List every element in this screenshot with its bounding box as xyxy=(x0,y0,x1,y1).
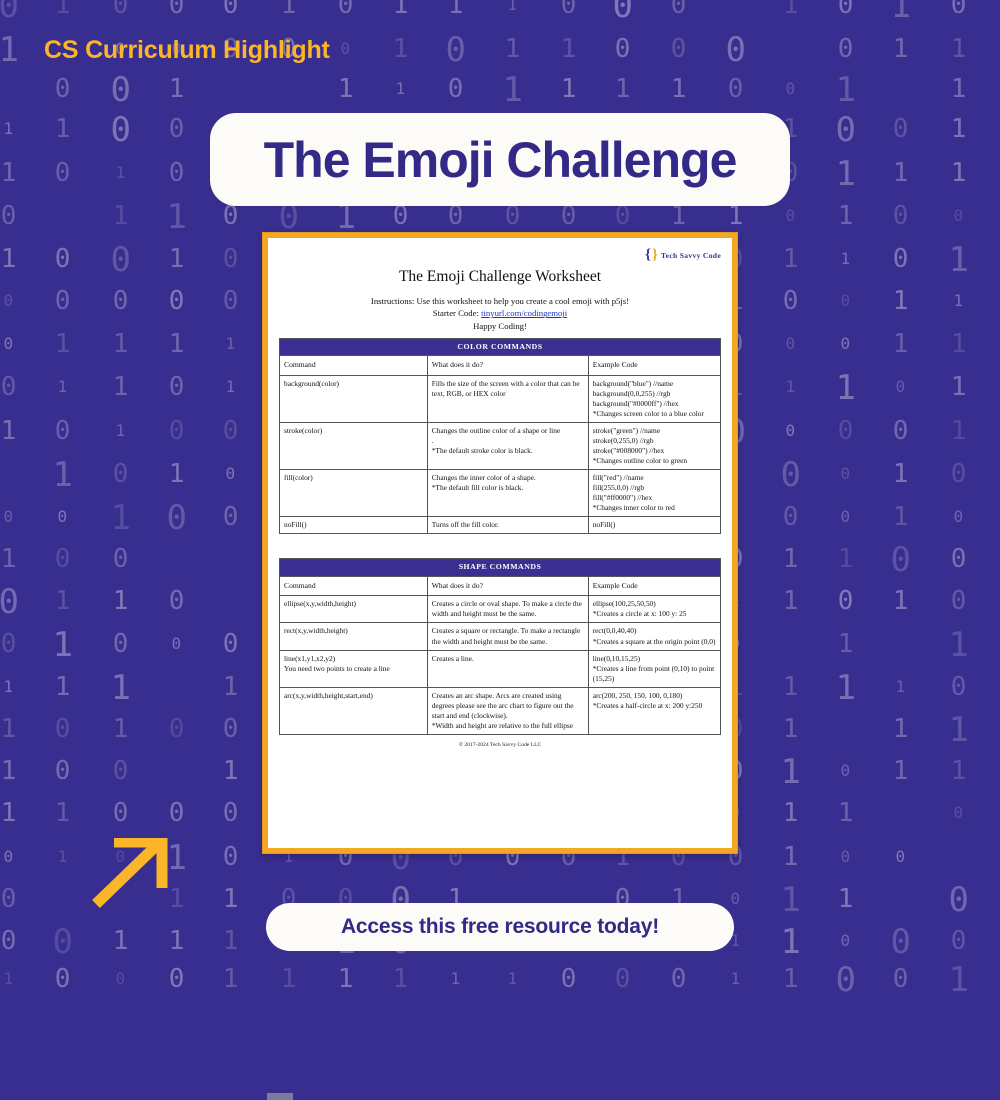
binary-digit: 0 xyxy=(113,546,129,572)
binary-digit: 0 xyxy=(954,805,964,821)
cell-example: rect(0,0,40,40)*Creates a square at the … xyxy=(588,623,720,650)
page-thumbnail-tab xyxy=(267,1093,293,1100)
binary-digit: 1 xyxy=(731,971,741,987)
binary-digit: 1 xyxy=(113,374,129,400)
binary-digit: 1 xyxy=(948,963,968,997)
binary-digit: 1 xyxy=(780,883,800,917)
table-section-header: COLOR COMMANDS xyxy=(280,338,721,356)
binary-digit: 0 xyxy=(1,631,17,657)
binary-digit: 1 xyxy=(0,33,19,67)
binary-digit: 0 xyxy=(612,0,632,23)
binary-digit: 1 xyxy=(783,246,799,272)
binary-digit: 0 xyxy=(169,716,185,742)
binary-digit: 0 xyxy=(893,246,909,272)
table-section-title: SHAPE COMMANDS xyxy=(280,559,721,577)
binary-digit: 1 xyxy=(448,0,464,18)
binary-digit: 1 xyxy=(396,81,406,97)
binary-digit: 1 xyxy=(951,374,967,400)
binary-digit: 1 xyxy=(226,336,236,352)
binary-digit: 0 xyxy=(841,763,851,779)
binary-digit: 1 xyxy=(166,841,186,875)
curly-braces-icon: {} xyxy=(645,248,658,262)
binary-digit: 1 xyxy=(893,588,909,614)
binary-digit: 1 xyxy=(169,246,185,272)
table-row: noFill()Turns off the fill color.noFill(… xyxy=(280,517,721,534)
cell-description: Creates an arc shape. Arcs are created u… xyxy=(427,687,588,734)
binary-digit: 1 xyxy=(113,588,129,614)
column-header: Example Code xyxy=(588,356,720,375)
cell-command: rect(x,y,width,height) xyxy=(280,623,428,650)
cell-command: noFill() xyxy=(280,517,428,534)
binary-digit: 0 xyxy=(169,588,185,614)
binary-digit: 0 xyxy=(223,288,239,314)
binary-digit: 1 xyxy=(948,243,968,277)
starter-code-line: Starter Code: tinyurl.com/codingemoji xyxy=(279,307,721,319)
binary-digit: 1 xyxy=(786,379,796,395)
binary-digit: 1 xyxy=(561,76,577,102)
binary-digit: 1 xyxy=(783,716,799,742)
binary-digit: 0 xyxy=(1,928,17,954)
brand-logo-text: Tech Savvy Code xyxy=(661,251,721,260)
binary-digit: 0 xyxy=(169,288,185,314)
table-row: fill(color)Changes the inner color of a … xyxy=(280,470,721,517)
binary-digit: 1 xyxy=(783,966,799,992)
binary-digit: 0 xyxy=(223,504,239,530)
column-header: What does it do? xyxy=(427,577,588,596)
binary-digit: 0 xyxy=(172,636,182,652)
binary-digit: 0 xyxy=(838,0,854,18)
binary-digit: 1 xyxy=(226,379,236,395)
binary-digit: 0 xyxy=(841,293,851,309)
column-header: Example Code xyxy=(588,577,720,596)
cell-description: Turns off the fill color. xyxy=(427,517,588,534)
binary-digit: 1 xyxy=(338,76,354,102)
binary-digit: 0 xyxy=(55,246,71,272)
binary-digit: 0 xyxy=(838,36,854,62)
binary-digit: 0 xyxy=(728,76,744,102)
binary-digit: 0 xyxy=(55,76,71,102)
happy-coding-line: Happy Coding! xyxy=(279,321,721,331)
binary-digit: 1 xyxy=(116,165,126,181)
binary-digit: 0 xyxy=(783,504,799,530)
binary-digit: 0 xyxy=(445,33,465,67)
cell-example: background("blue") //namebackground(0,0,… xyxy=(588,375,720,422)
table-row: background(color)Fills the size of the s… xyxy=(280,375,721,422)
binary-digit: 0 xyxy=(55,418,71,444)
table-row: ellipse(x,y,width,height)Creates a circl… xyxy=(280,596,721,623)
table-section-title: COLOR COMMANDS xyxy=(280,338,721,356)
arrow-up-right-icon xyxy=(92,838,168,908)
binary-digit: 1 xyxy=(948,628,968,662)
command-table: SHAPE COMMANDSCommandWhat does it do?Exa… xyxy=(279,558,721,735)
binary-digit: 0 xyxy=(893,116,909,142)
eyebrow-label: CS Curriculum Highlight xyxy=(44,36,330,65)
cell-example: line(0,10,15,25)*Creates a line from poi… xyxy=(588,650,720,687)
binary-digit: 0 xyxy=(223,716,239,742)
cell-example: noFill() xyxy=(588,517,720,534)
worksheet-title: The Emoji Challenge Worksheet xyxy=(279,268,721,286)
binary-digit: 1 xyxy=(55,800,71,826)
binary-digit: 1 xyxy=(954,293,964,309)
binary-digit: 1 xyxy=(783,546,799,572)
binary-digit: 1 xyxy=(223,928,239,954)
worksheet-logo-row: {} Tech Savvy Code xyxy=(279,247,721,263)
binary-digit: 0 xyxy=(113,758,129,784)
binary-digit: 1 xyxy=(561,36,577,62)
binary-digit: 0 xyxy=(393,203,409,229)
binary-digit: 1 xyxy=(893,716,909,742)
binary-digit: 0 xyxy=(110,73,130,107)
binary-digit: 0 xyxy=(55,546,71,572)
cell-example: stroke("green") //namestroke(0,255,0) //… xyxy=(588,422,720,469)
binary-digit: 1 xyxy=(835,157,855,191)
binary-digit: 0 xyxy=(835,963,855,997)
binary-digit: 1 xyxy=(55,588,71,614)
binary-digit: 1 xyxy=(281,0,297,18)
cell-command: fill(color) xyxy=(280,470,428,517)
cell-description: Changes the inner color of a shape.*The … xyxy=(427,470,588,517)
binary-digit: 0 xyxy=(4,509,14,525)
binary-digit: 1 xyxy=(890,0,910,23)
binary-digit: 0 xyxy=(951,928,967,954)
instructions-line: Instructions: Use this worksheet to help… xyxy=(279,295,721,307)
binary-digit: 1 xyxy=(169,886,185,912)
binary-digit: 1 xyxy=(951,160,967,186)
binary-digit: 1 xyxy=(893,758,909,784)
binary-digit: 0 xyxy=(954,208,964,224)
binary-digit: 1 xyxy=(838,631,854,657)
binary-digit: 1 xyxy=(508,0,518,13)
table-row: arc(x,y,width,height,start,end)Creates a… xyxy=(280,687,721,734)
binary-digit: 0 xyxy=(448,203,464,229)
binary-digit: 0 xyxy=(55,288,71,314)
binary-digit: 1 xyxy=(841,251,851,267)
binary-digit: 0 xyxy=(116,971,126,987)
binary-digit: 0 xyxy=(0,585,19,619)
worksheet-instructions: Instructions: Use this worksheet to help… xyxy=(279,295,721,320)
binary-digit: 0 xyxy=(615,203,631,229)
binary-digit: 1 xyxy=(783,588,799,614)
binary-digit: 0 xyxy=(166,501,186,535)
binary-digit: 0 xyxy=(52,925,72,959)
binary-digit: 1 xyxy=(1,546,17,572)
binary-digit: 0 xyxy=(841,849,851,865)
table-column-header-row: CommandWhat does it do?Example Code xyxy=(280,577,721,596)
binary-digit: 1 xyxy=(948,713,968,747)
binary-digit: 0 xyxy=(505,203,521,229)
binary-digit: 1 xyxy=(55,0,71,18)
binary-digit: 0 xyxy=(838,588,854,614)
table-row: stroke(color)Changes the outline color o… xyxy=(280,422,721,469)
binary-digit: 0 xyxy=(58,509,68,525)
binary-digit: 1 xyxy=(671,76,687,102)
binary-digit: 0 xyxy=(786,81,796,97)
binary-digit: 0 xyxy=(561,966,577,992)
binary-digit: 1 xyxy=(671,203,687,229)
binary-digit: 0 xyxy=(780,458,800,492)
binary-digit: 0 xyxy=(113,631,129,657)
binary-digit: 0 xyxy=(561,203,577,229)
binary-digit: 1 xyxy=(893,331,909,357)
cell-command: line(x1,y1,x2,y2)You need two points to … xyxy=(280,650,428,687)
binary-digit: 1 xyxy=(835,371,855,405)
binary-digit: 1 xyxy=(169,76,185,102)
binary-digit: 1 xyxy=(55,331,71,357)
binary-digit: 0 xyxy=(786,423,796,439)
binary-digit: 1 xyxy=(1,246,17,272)
brand-logo: {} Tech Savvy Code xyxy=(645,248,721,262)
binary-digit: 0 xyxy=(671,0,687,18)
binary-digit: 0 xyxy=(786,208,796,224)
binary-digit: 1 xyxy=(1,800,17,826)
binary-digit: 1 xyxy=(169,461,185,487)
binary-digit: 1 xyxy=(783,674,799,700)
binary-digit: 0 xyxy=(0,0,19,23)
cell-command: background(color) xyxy=(280,375,428,422)
binary-digit: 1 xyxy=(113,331,129,357)
binary-digit: 0 xyxy=(223,418,239,444)
binary-digit: 1 xyxy=(451,971,461,987)
binary-digit: 0 xyxy=(169,116,185,142)
binary-digit: 1 xyxy=(893,288,909,314)
binary-digit: 0 xyxy=(113,0,129,18)
binary-digit: 0 xyxy=(893,203,909,229)
cta-label: Access this free resource today! xyxy=(341,915,659,939)
table-column-header-row: CommandWhat does it do?Example Code xyxy=(280,356,721,375)
binary-digit: 0 xyxy=(890,925,910,959)
binary-digit: 0 xyxy=(725,33,745,67)
binary-digit: 0 xyxy=(169,418,185,444)
binary-digit: 1 xyxy=(951,36,967,62)
worksheet-preview[interactable]: {} Tech Savvy Code The Emoji Challenge W… xyxy=(262,232,738,854)
binary-digit: 1 xyxy=(110,671,130,705)
binary-digit: 1 xyxy=(393,36,409,62)
binary-digit: 1 xyxy=(508,971,518,987)
binary-digit: 1 xyxy=(951,331,967,357)
binary-digit: 0 xyxy=(341,41,351,57)
binary-digit: 1 xyxy=(728,203,744,229)
binary-digit: 1 xyxy=(951,418,967,444)
binary-digit: 0 xyxy=(169,800,185,826)
binary-digit: 0 xyxy=(169,0,185,18)
binary-digit: 0 xyxy=(671,36,687,62)
table-row: rect(x,y,width,height)Creates a square o… xyxy=(280,623,721,650)
binary-digit: 0 xyxy=(951,588,967,614)
binary-digit: 0 xyxy=(835,113,855,147)
table-section-header: SHAPE COMMANDS xyxy=(280,559,721,577)
binary-digit: 1 xyxy=(780,755,800,789)
binary-digit: 0 xyxy=(223,800,239,826)
starter-code-label: Starter Code: xyxy=(433,308,479,318)
binary-digit: 1 xyxy=(169,331,185,357)
binary-digit: 1 xyxy=(1,418,17,444)
cta-button[interactable]: Access this free resource today! xyxy=(266,903,734,951)
column-header: Command xyxy=(280,577,428,596)
binary-digit: 1 xyxy=(166,200,186,234)
binary-digit: 0 xyxy=(223,246,239,272)
binary-digit: 1 xyxy=(393,966,409,992)
binary-digit: 1 xyxy=(896,679,906,695)
binary-digit: 0 xyxy=(951,461,967,487)
binary-digit: 0 xyxy=(110,243,130,277)
binary-digit: 1 xyxy=(58,849,68,865)
binary-digit: 1 xyxy=(169,928,185,954)
binary-digit: 0 xyxy=(841,509,851,525)
binary-digit: 1 xyxy=(4,971,14,987)
binary-digit: 1 xyxy=(58,379,68,395)
binary-digit: 0 xyxy=(55,160,71,186)
binary-digit: 0 xyxy=(841,933,851,949)
binary-digit: 1 xyxy=(615,76,631,102)
title-card: The Emoji Challenge xyxy=(210,113,790,206)
command-table: COLOR COMMANDSCommandWhat does it do?Exa… xyxy=(279,338,721,535)
binary-digit: 0 xyxy=(786,336,796,352)
binary-digit: 0 xyxy=(448,76,464,102)
binary-digit: 0 xyxy=(1,203,17,229)
binary-digit: 1 xyxy=(55,116,71,142)
binary-digit: 0 xyxy=(671,966,687,992)
binary-digit: 1 xyxy=(951,76,967,102)
binary-digit: 0 xyxy=(731,891,741,907)
binary-digit: 1 xyxy=(113,928,129,954)
binary-digit: 0 xyxy=(223,631,239,657)
binary-digit: 1 xyxy=(223,758,239,784)
starter-code-link[interactable]: tinyurl.com/codingemoji xyxy=(481,308,567,318)
binary-digit: 1 xyxy=(893,504,909,530)
binary-digit: 0 xyxy=(113,800,129,826)
binary-digit: 1 xyxy=(281,966,297,992)
binary-digit: 1 xyxy=(893,36,909,62)
binary-digit: 1 xyxy=(338,966,354,992)
binary-digit: 1 xyxy=(1,758,17,784)
binary-digit: 1 xyxy=(505,36,521,62)
binary-digit: 1 xyxy=(783,0,799,18)
worksheet-copyright: © 2017-2024 Tech Savvy Code LLC xyxy=(279,742,721,748)
binary-digit: 0 xyxy=(113,288,129,314)
cell-description: Creates a square or rectangle. To make a… xyxy=(427,623,588,650)
binary-digit: 1 xyxy=(783,844,799,870)
binary-digit: 1 xyxy=(951,758,967,784)
binary-digit: 1 xyxy=(502,73,522,107)
binary-digit: 0 xyxy=(893,966,909,992)
binary-digit: 0 xyxy=(55,716,71,742)
binary-digit: 0 xyxy=(841,466,851,482)
column-header: What does it do? xyxy=(427,356,588,375)
binary-digit: 0 xyxy=(890,543,910,577)
binary-digit: 1 xyxy=(52,628,72,662)
binary-digit: 0 xyxy=(954,509,964,525)
binary-digit: 1 xyxy=(951,116,967,142)
binary-digit: 0 xyxy=(4,336,14,352)
table-spacer xyxy=(279,534,721,551)
binary-digit: 1 xyxy=(838,203,854,229)
binary-digit: 0 xyxy=(223,203,239,229)
binary-digit: 0 xyxy=(55,966,71,992)
binary-digit: 1 xyxy=(1,716,17,742)
binary-digit: 1 xyxy=(113,716,129,742)
binary-digit: 1 xyxy=(893,160,909,186)
binary-digit: 1 xyxy=(1,160,17,186)
binary-digit: 0 xyxy=(838,418,854,444)
binary-digit: 1 xyxy=(838,800,854,826)
binary-digit: 1 xyxy=(780,925,800,959)
binary-digit: 0 xyxy=(561,0,577,18)
binary-digit: 1 xyxy=(838,886,854,912)
binary-digit: 0 xyxy=(113,461,129,487)
cell-description: Changes the outline color of a shape or … xyxy=(427,422,588,469)
binary-digit: 1 xyxy=(4,679,14,695)
binary-digit: 1 xyxy=(393,0,409,18)
binary-digit: 1 xyxy=(835,671,855,705)
command-tables: COLOR COMMANDSCommandWhat does it do?Exa… xyxy=(279,338,721,735)
cell-description: Creates a circle or oval shape. To make … xyxy=(427,596,588,623)
binary-digit: 0 xyxy=(615,966,631,992)
binary-digit: 0 xyxy=(4,849,14,865)
binary-digit: 1 xyxy=(55,674,71,700)
binary-digit: 1 xyxy=(116,423,126,439)
cell-example: ellipse(100,25,50,50)*Creates a circle a… xyxy=(588,596,720,623)
binary-digit: 0 xyxy=(169,374,185,400)
binary-digit: 0 xyxy=(226,466,236,482)
binary-digit: 1 xyxy=(52,458,72,492)
binary-digit: 0 xyxy=(1,886,17,912)
binary-digit: 1 xyxy=(110,501,130,535)
binary-digit: 0 xyxy=(893,418,909,444)
binary-digit: 0 xyxy=(1,374,17,400)
worksheet-page: {} Tech Savvy Code The Emoji Challenge W… xyxy=(268,238,732,848)
page-title: The Emoji Challenge xyxy=(264,131,737,189)
binary-digit: 0 xyxy=(951,0,967,18)
binary-digit: 0 xyxy=(55,758,71,784)
cell-command: ellipse(x,y,width,height) xyxy=(280,596,428,623)
binary-digit: 0 xyxy=(951,674,967,700)
binary-digit: 0 xyxy=(615,36,631,62)
binary-digit: 0 xyxy=(223,844,239,870)
binary-digit: 0 xyxy=(169,160,185,186)
binary-digit: 0 xyxy=(110,113,130,147)
cell-command: arc(x,y,width,height,start,end) xyxy=(280,687,428,734)
binary-digit: 0 xyxy=(4,293,14,309)
binary-digit: 0 xyxy=(841,336,851,352)
cell-example: fill("red") //namefill(255,0,0) //rgbfil… xyxy=(588,470,720,517)
cell-command: stroke(color) xyxy=(280,422,428,469)
column-header: Command xyxy=(280,356,428,375)
table-row: line(x1,y1,x2,y2)You need two points to … xyxy=(280,650,721,687)
binary-digit: 0 xyxy=(948,883,968,917)
binary-digit: 1 xyxy=(783,800,799,826)
binary-digit: 0 xyxy=(951,546,967,572)
binary-digit: 1 xyxy=(223,966,239,992)
binary-digit: 0 xyxy=(783,288,799,314)
binary-digit: 1 xyxy=(223,886,239,912)
binary-digit: 1 xyxy=(113,203,129,229)
binary-digit: 0 xyxy=(896,379,906,395)
cell-description: Fills the size of the screen with a colo… xyxy=(427,375,588,422)
binary-digit: 1 xyxy=(893,461,909,487)
binary-digit: 1 xyxy=(835,73,855,107)
binary-digit: 0 xyxy=(338,0,354,18)
binary-digit: 1 xyxy=(838,546,854,572)
binary-digit: 1 xyxy=(223,674,239,700)
binary-digit: 0 xyxy=(223,0,239,18)
binary-digit: 0 xyxy=(896,849,906,865)
cell-description: Creates a line. xyxy=(427,650,588,687)
binary-digit: 1 xyxy=(4,121,14,137)
cell-example: arc(200, 250, 150, 100, 0,180)*Creates a… xyxy=(588,687,720,734)
binary-digit: 0 xyxy=(169,966,185,992)
